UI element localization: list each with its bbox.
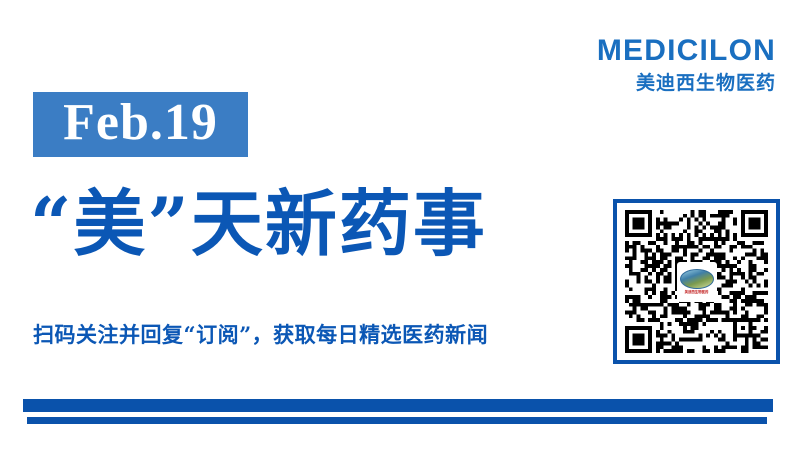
- date-badge: Feb.19: [33, 92, 248, 157]
- brand-name-latin: MEDICILON: [597, 36, 776, 66]
- date-badge-label: Feb.19: [63, 97, 218, 149]
- qr-logo-globe-icon: [680, 269, 714, 289]
- page-subtitle: 扫码关注并回复“订阅”，获取每日精选医药新闻: [33, 322, 488, 347]
- divider-bar-thick: [23, 399, 773, 412]
- qr-code-panel[interactable]: 美迪西生物医药: [613, 199, 780, 364]
- brand-name-chinese: 美迪西生物医药: [597, 74, 776, 93]
- qr-center-logo: 美迪西生物医药: [677, 262, 717, 302]
- brand-logo: MEDICILON 美迪西生物医药: [597, 36, 776, 93]
- poster-canvas: MEDICILON 美迪西生物医药 Feb.19 “美”天新药事 扫码关注并回复…: [0, 0, 800, 468]
- divider-bar-thin: [27, 417, 767, 424]
- page-title: “美”天新药事: [30, 186, 487, 262]
- qr-logo-caption: 美迪西生物医药: [685, 291, 709, 294]
